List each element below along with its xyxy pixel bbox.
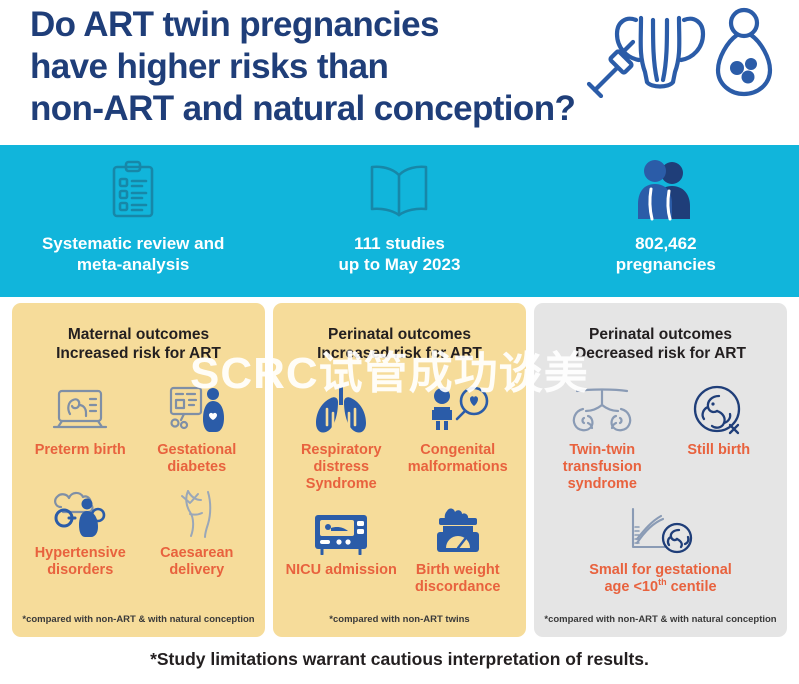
page-title: Do ART twin pregnancies have higher risk…	[30, 4, 600, 130]
header: Do ART twin pregnancies have higher risk…	[0, 0, 799, 145]
outcome-item-respiratory-distress: Respiratory distress Syndrome	[283, 383, 400, 493]
outcome-item-twin-twin-transfusion: Twin-twin transfusion syndrome	[544, 383, 661, 493]
pregnant-woman-twins-icon	[718, 10, 770, 94]
clipboard-checklist-icon	[109, 159, 157, 221]
ultrasound-monitor-icon	[52, 383, 108, 435]
stat-label: 802,462 pregnancies	[616, 233, 716, 275]
panel-title: Perinatal outcomes Increased risk for AR…	[283, 325, 516, 363]
outcome-label: Twin-twin transfusion syndrome	[563, 442, 642, 493]
two-people-icon	[638, 159, 694, 221]
panel-maternal-increased: Maternal outcomes Increased risk for ART…	[12, 303, 265, 637]
panel-item-grid: Respiratory distress Syndrome	[283, 367, 516, 614]
outcome-label: Small for gestational age <10th centile	[589, 562, 732, 596]
blood-pressure-pregnant-icon	[51, 486, 109, 538]
panel-item-grid: Preterm birth	[22, 367, 255, 614]
outcome-panels: Maternal outcomes Increased risk for ART…	[0, 297, 799, 637]
stat-systematic-review: Systematic review and meta-analysis	[0, 145, 266, 297]
panel-footnote: *compared with non-ART & with natural co…	[22, 614, 255, 629]
outcome-item-still-birth: Still birth	[661, 383, 778, 493]
stat-label: Systematic review and meta-analysis	[42, 233, 224, 275]
incubator-icon	[312, 503, 370, 555]
outcome-label: Respiratory distress Syndrome	[285, 442, 398, 493]
uterus-syringe-icon	[589, 18, 703, 96]
caesarean-incision-icon	[174, 486, 220, 538]
twin-fetuses-placenta-icon	[567, 383, 637, 435]
baby-weighing-scale-icon	[431, 503, 485, 555]
outcome-label: Birth weight discordance	[415, 562, 500, 596]
stat-pregnancies-count: 802,462 pregnancies	[533, 145, 799, 297]
panel-title: Perinatal outcomes Decreased risk for AR…	[544, 325, 777, 363]
stat-studies-count: 111 studies up to May 2023	[266, 145, 532, 297]
outcome-item-birth-weight-discordance: Birth weight discordance	[400, 503, 517, 596]
open-book-icon	[368, 159, 430, 221]
outcome-label: Hypertensive disorders	[35, 545, 126, 579]
outcome-item-hypertensive-disorders: Hypertensive disorders	[22, 486, 139, 579]
outcome-label: Caesarean delivery	[160, 545, 233, 579]
glucose-monitor-pregnant-icon	[168, 383, 226, 435]
footer: *Study limitations warrant cautious inte…	[0, 637, 799, 681]
panel-item-grid: Twin-twin transfusion syndrome Still bir…	[544, 367, 777, 614]
header-icons-svg	[581, 6, 781, 98]
outcome-label: Preterm birth	[35, 442, 126, 459]
outcome-label: NICU admission	[286, 562, 397, 579]
outcome-item-congenital-malformations: Congenital malformations	[400, 383, 517, 493]
panel-perinatal-decreased: Perinatal outcomes Decreased risk for AR…	[534, 303, 787, 637]
header-icon-group	[581, 6, 781, 98]
panel-title: Maternal outcomes Increased risk for ART	[22, 325, 255, 363]
panel-footnote: *compared with non-ART twins	[283, 614, 516, 629]
outcome-item-gestational-diabetes: Gestational diabetes	[139, 383, 256, 476]
growth-chart-fetus-icon	[625, 503, 697, 555]
panel-perinatal-increased: Perinatal outcomes Increased risk for AR…	[273, 303, 526, 637]
outcome-label: Still birth	[687, 442, 750, 459]
outcome-item-caesarean-delivery: Caesarean delivery	[139, 486, 256, 579]
outcome-label: Gestational diabetes	[157, 442, 236, 476]
study-limitations-note: *Study limitations warrant cautious inte…	[150, 649, 649, 670]
baby-magnifier-heart-icon	[427, 383, 489, 435]
fetus-cross-icon	[692, 383, 746, 435]
outcome-label-suffix: centile	[667, 579, 717, 595]
outcome-label-superscript: th	[658, 577, 667, 587]
outcome-label: Congenital malformations	[408, 442, 508, 476]
outcome-item-nicu-admission: NICU admission	[283, 503, 400, 596]
panel-footnote: *compared with non-ART & with natural co…	[544, 614, 777, 629]
outcome-item-small-for-gestational-age: Small for gestational age <10th centile	[544, 503, 777, 596]
stats-band: Systematic review and meta-analysis 111 …	[0, 145, 799, 297]
outcome-item-preterm-birth: Preterm birth	[22, 383, 139, 476]
stat-label: 111 studies up to May 2023	[339, 233, 461, 275]
lungs-icon	[313, 383, 369, 435]
